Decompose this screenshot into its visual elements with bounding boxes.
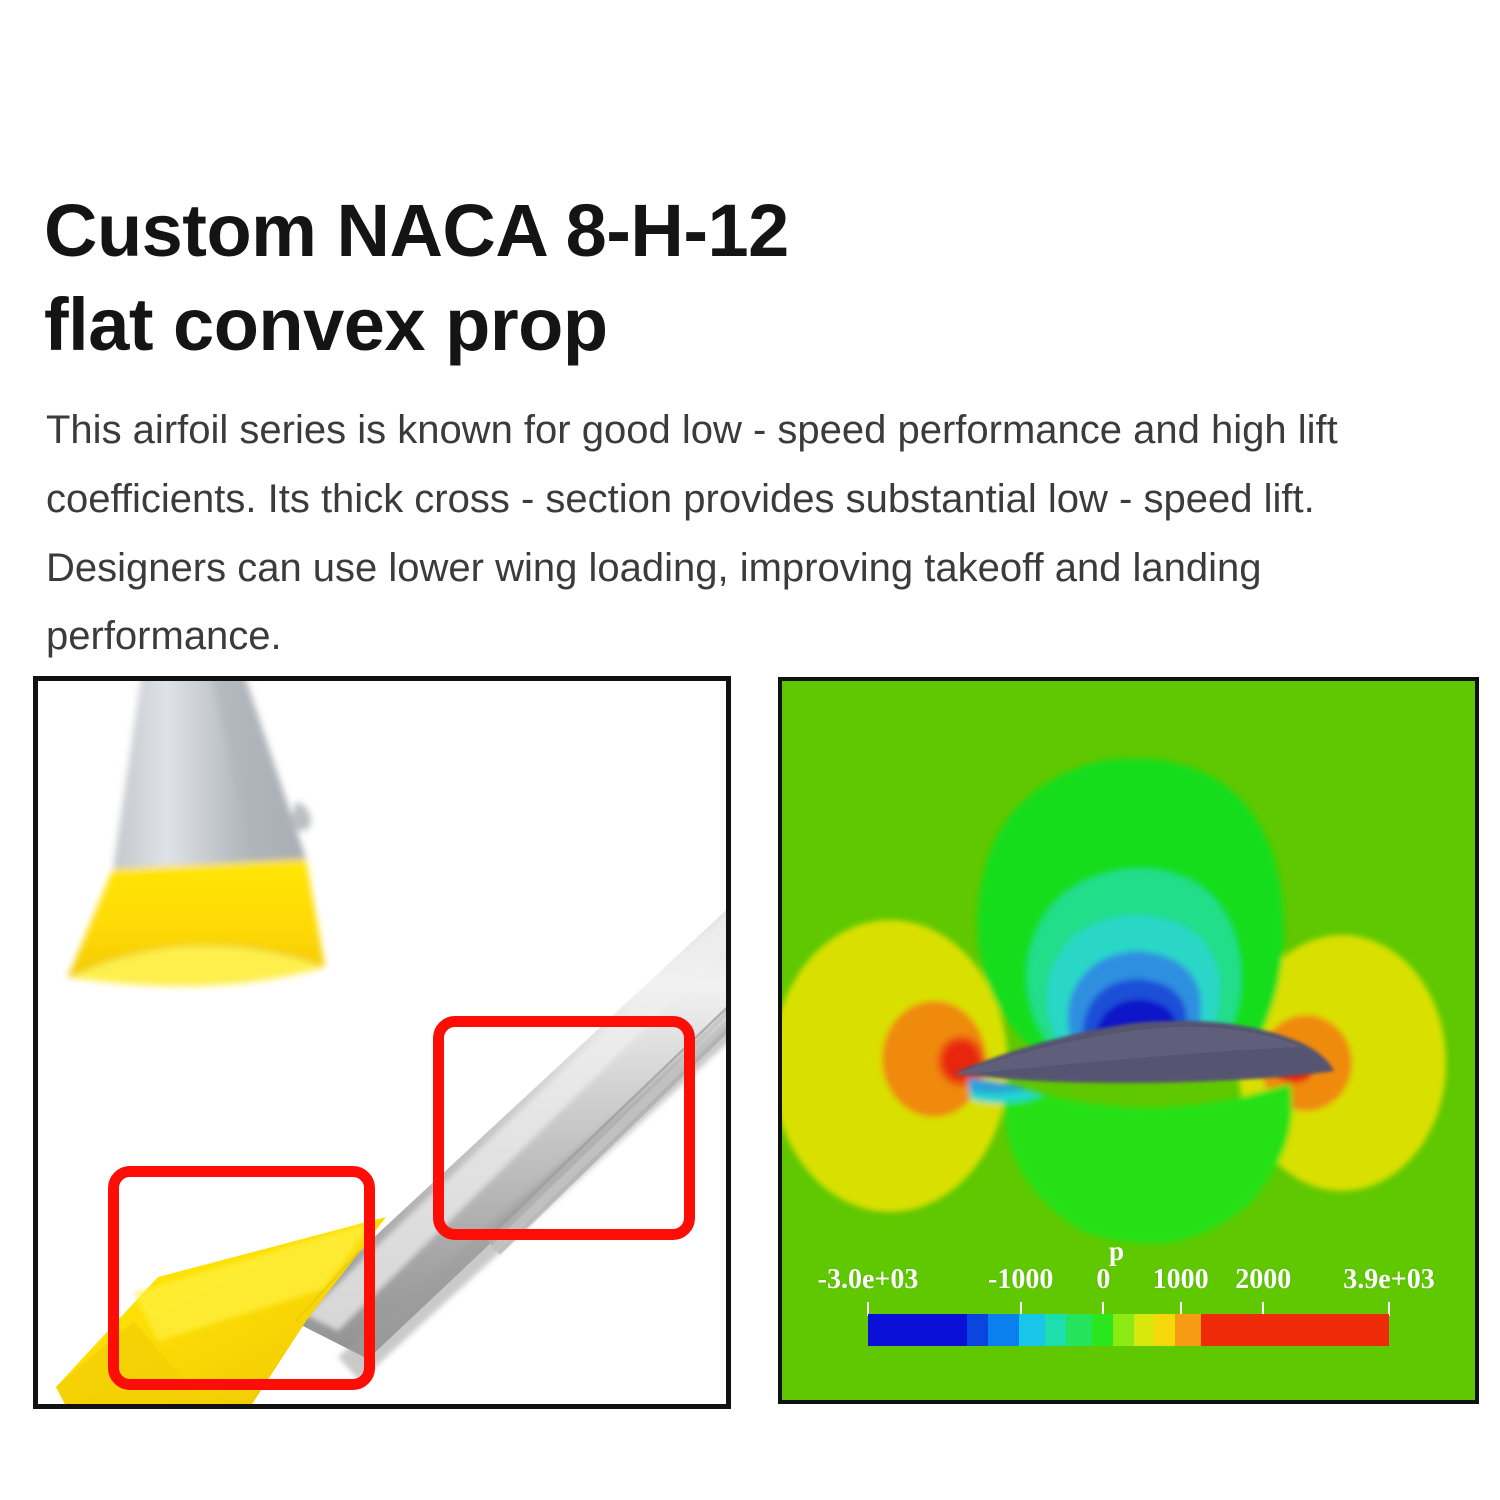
colorbar-segment-9 — [1154, 1314, 1175, 1346]
colorbar-segment-10 — [1175, 1314, 1201, 1346]
pressure-contour-plot: p -3.0e+03-10000100020003.9e+03 — [778, 677, 1479, 1404]
colorbar-segment-11 — [1201, 1314, 1389, 1346]
colorbar-segment-0 — [868, 1314, 967, 1346]
colorbar-segment-4 — [1045, 1314, 1066, 1346]
colorbar-segment-1 — [967, 1314, 988, 1346]
colorbar-segment-7 — [1113, 1314, 1134, 1346]
colorbar-segment-5 — [1066, 1314, 1092, 1346]
colorbar-tick-labels: -3.0e+03-10000100020003.9e+03 — [782, 1266, 1475, 1300]
colorbar-bar-wrap — [868, 1314, 1389, 1346]
colorbar-legend: p -3.0e+03-10000100020003.9e+03 — [782, 1238, 1475, 1358]
colorbar-segment-3 — [1019, 1314, 1045, 1346]
colorbar-tick-label-3: 1000 — [1153, 1266, 1209, 1294]
highlight-box-lower — [108, 1166, 375, 1390]
colorbar-segment-8 — [1134, 1314, 1155, 1346]
page-root: Custom NACA 8-H-12 flat convex prop This… — [0, 0, 1500, 1500]
colorbar-tick-label-5: 3.9e+03 — [1343, 1266, 1434, 1294]
colorbar-tick-label-4: 2000 — [1235, 1266, 1291, 1294]
figure-row: p -3.0e+03-10000100020003.9e+03 — [0, 0, 1500, 1500]
propeller-blade-photo — [33, 676, 731, 1409]
colorbar-tick-label-1: -1000 — [988, 1266, 1053, 1294]
colorbar-segment-6 — [1092, 1314, 1113, 1346]
highlight-box-upper — [433, 1016, 695, 1240]
colorbar-field-label: p — [778, 1238, 1463, 1265]
cfd-stage: p -3.0e+03-10000100020003.9e+03 — [782, 681, 1475, 1400]
colorbar-tick-label-0: -3.0e+03 — [818, 1266, 919, 1294]
colorbar-tick-label-2: 0 — [1096, 1266, 1110, 1294]
colorbar-segment-2 — [988, 1314, 1019, 1346]
photo-stage — [38, 681, 726, 1404]
colorbar-gradient — [868, 1314, 1389, 1346]
